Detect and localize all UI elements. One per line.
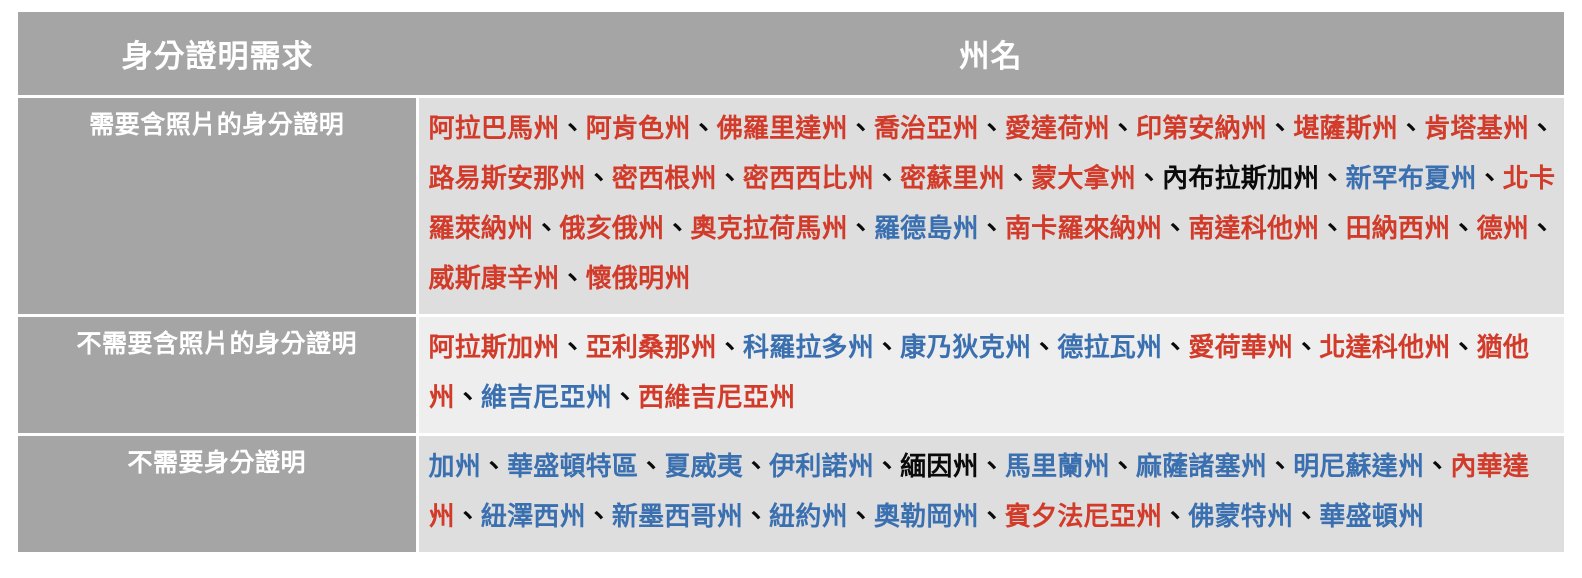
list-separator: 、: [560, 264, 586, 294]
id-requirement-table-container: 身分證明需求 州名 需要含照片的身分證明阿拉巴馬州、阿肯色州、佛羅里達州、喬治亞…: [18, 12, 1564, 555]
state-name: 華盛頓州: [1319, 502, 1424, 532]
state-name: 緬因州: [900, 452, 979, 482]
state-name: 南卡羅來納州: [1005, 214, 1162, 244]
state-name: 佛羅里達州: [717, 114, 848, 144]
state-list-cell: 阿拉斯加州、亞利桑那州、科羅拉多州、康乃狄克州、德拉瓦州、愛荷華州、北達科他州、…: [417, 316, 1564, 435]
state-name: 華盛頓特區: [507, 452, 638, 482]
state-name: 阿拉巴馬州: [429, 114, 560, 144]
list-separator: 、: [560, 333, 586, 363]
state-name: 加州: [429, 452, 481, 482]
list-separator: 、: [874, 333, 900, 363]
id-requirement-table: 身分證明需求 州名 需要含照片的身分證明阿拉巴馬州、阿肯色州、佛羅里達州、喬治亞…: [18, 12, 1564, 555]
state-name: 俄亥俄州: [560, 214, 665, 244]
list-separator: 、: [979, 214, 1005, 244]
table-row: 不需要含照片的身分證明阿拉斯加州、亞利桑那州、科羅拉多州、康乃狄克州、德拉瓦州、…: [18, 316, 1564, 435]
list-separator: 、: [1529, 214, 1555, 244]
list-separator: 、: [1319, 164, 1345, 194]
list-separator: 、: [1450, 333, 1476, 363]
requirement-label: 不需要含照片的身分證明: [18, 316, 417, 435]
requirement-label: 需要含照片的身分證明: [18, 97, 417, 316]
list-separator: 、: [848, 502, 874, 532]
state-name: 亞利桑那州: [586, 333, 717, 363]
state-name: 紐約州: [769, 502, 848, 532]
table-row: 不需要身分證明加州、華盛頓特區、夏威夷、伊利諾州、緬因州、馬里蘭州、麻薩諸塞州、…: [18, 435, 1564, 554]
state-name: 紐澤西州: [481, 502, 586, 532]
state-name: 北達科他州: [1319, 333, 1450, 363]
list-separator: 、: [1424, 452, 1450, 482]
state-name: 德拉瓦州: [1057, 333, 1162, 363]
list-separator: 、: [691, 114, 717, 144]
state-name: 新罕布夏州: [1346, 164, 1477, 194]
list-separator: 、: [874, 452, 900, 482]
list-separator: 、: [1031, 333, 1057, 363]
table-row: 需要含照片的身分證明阿拉巴馬州、阿肯色州、佛羅里達州、喬治亞州、愛達荷州、印第安…: [18, 97, 1564, 316]
state-name: 愛達荷州: [1005, 114, 1110, 144]
state-name: 愛荷華州: [1188, 333, 1293, 363]
state-list-cell: 阿拉巴馬州、阿肯色州、佛羅里達州、喬治亞州、愛達荷州、印第安納州、堪薩斯州、肯塔…: [417, 97, 1564, 316]
state-name: 蒙大拿州: [1031, 164, 1136, 194]
list-separator: 、: [638, 452, 664, 482]
state-name: 密西西比州: [743, 164, 874, 194]
list-separator: 、: [979, 502, 1005, 532]
state-name: 田納西州: [1346, 214, 1451, 244]
list-separator: 、: [1136, 164, 1162, 194]
list-separator: 、: [717, 333, 743, 363]
list-separator: 、: [1267, 452, 1293, 482]
list-separator: 、: [560, 114, 586, 144]
list-separator: 、: [1110, 452, 1136, 482]
state-name: 密西根州: [612, 164, 717, 194]
list-separator: 、: [874, 164, 900, 194]
list-separator: 、: [1529, 114, 1555, 144]
list-separator: 、: [1162, 333, 1188, 363]
list-separator: 、: [1162, 214, 1188, 244]
state-name: 佛蒙特州: [1188, 502, 1293, 532]
list-separator: 、: [1005, 164, 1031, 194]
state-name: 堪薩斯州: [1293, 114, 1398, 144]
state-name: 奧克拉荷馬州: [691, 214, 848, 244]
list-separator: 、: [1293, 333, 1319, 363]
list-separator: 、: [1293, 502, 1319, 532]
state-name: 康乃狄克州: [900, 333, 1031, 363]
list-separator: 、: [743, 502, 769, 532]
state-name: 德州: [1477, 214, 1529, 244]
state-name: 南達科他州: [1188, 214, 1319, 244]
table-header: 身分證明需求 州名: [18, 12, 1564, 97]
state-name: 阿肯色州: [586, 114, 691, 144]
state-name: 明尼蘇達州: [1293, 452, 1424, 482]
state-name: 科羅拉多州: [743, 333, 874, 363]
list-separator: 、: [848, 214, 874, 244]
state-name: 夏威夷: [664, 452, 743, 482]
state-name: 羅德島州: [874, 214, 979, 244]
state-name: 阿拉斯加州: [429, 333, 560, 363]
state-name: 伊利諾州: [769, 452, 874, 482]
list-separator: 、: [1110, 114, 1136, 144]
list-separator: 、: [455, 502, 481, 532]
list-separator: 、: [586, 502, 612, 532]
list-separator: 、: [848, 114, 874, 144]
table-body: 需要含照片的身分證明阿拉巴馬州、阿肯色州、佛羅里達州、喬治亞州、愛達荷州、印第安…: [18, 97, 1564, 554]
list-separator: 、: [455, 383, 481, 413]
list-separator: 、: [717, 164, 743, 194]
list-separator: 、: [1450, 214, 1476, 244]
state-name: 麻薩諸塞州: [1136, 452, 1267, 482]
state-name: 內布拉斯加州: [1162, 164, 1319, 194]
list-separator: 、: [979, 114, 1005, 144]
column-header-states: 州名: [417, 12, 1564, 97]
state-name: 賓夕法尼亞州: [1005, 502, 1162, 532]
table-header-row: 身分證明需求 州名: [18, 12, 1564, 97]
list-separator: 、: [612, 383, 638, 413]
column-header-requirement: 身分證明需求: [18, 12, 417, 97]
list-separator: 、: [1162, 502, 1188, 532]
list-separator: 、: [586, 164, 612, 194]
list-separator: 、: [481, 452, 507, 482]
state-name: 喬治亞州: [874, 114, 979, 144]
list-separator: 、: [743, 452, 769, 482]
state-name: 懷俄明州: [586, 264, 691, 294]
state-list-cell: 加州、華盛頓特區、夏威夷、伊利諾州、緬因州、馬里蘭州、麻薩諸塞州、明尼蘇達州、內…: [417, 435, 1564, 554]
state-name: 新墨西哥州: [612, 502, 743, 532]
state-name: 維吉尼亞州: [481, 383, 612, 413]
list-separator: 、: [664, 214, 690, 244]
state-name: 路易斯安那州: [429, 164, 586, 194]
state-name: 西維吉尼亞州: [638, 383, 795, 413]
list-separator: 、: [1319, 214, 1345, 244]
list-separator: 、: [1398, 114, 1424, 144]
list-separator: 、: [1477, 164, 1503, 194]
state-name: 馬里蘭州: [1005, 452, 1110, 482]
requirement-label: 不需要身分證明: [18, 435, 417, 554]
state-name: 威斯康辛州: [429, 264, 560, 294]
list-separator: 、: [979, 452, 1005, 482]
list-separator: 、: [1267, 114, 1293, 144]
state-name: 密蘇里州: [900, 164, 1005, 194]
state-name: 奧勒岡州: [874, 502, 979, 532]
state-name: 印第安納州: [1136, 114, 1267, 144]
list-separator: 、: [533, 214, 559, 244]
state-name: 肯塔基州: [1424, 114, 1529, 144]
